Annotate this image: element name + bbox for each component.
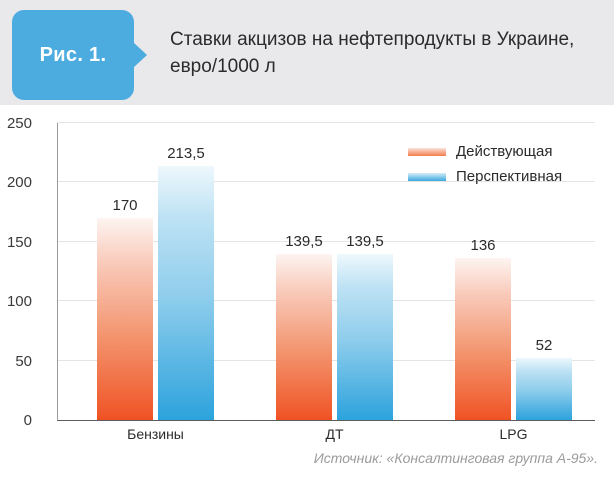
x-axis-category-label: LPG	[435, 426, 592, 442]
bar-value-label: 139,5	[325, 233, 405, 250]
bar-current	[455, 258, 511, 420]
legend-swatch-current-icon	[408, 148, 446, 156]
bar-value-label: 213,5	[146, 145, 226, 162]
y-axis-tick-label: 50	[0, 353, 32, 370]
y-axis-tick-label: 100	[0, 293, 32, 310]
x-axis-category-label: ДТ	[256, 426, 413, 442]
figure-badge: Рис. 1.	[12, 10, 134, 100]
bar-value-label: 136	[443, 237, 523, 254]
bar-current	[97, 218, 153, 420]
legend-item: Действующая	[408, 139, 583, 164]
x-axis-category-label: Бензины	[77, 426, 234, 442]
bar-prospective	[516, 358, 572, 420]
y-axis-tick-label: 0	[0, 412, 32, 429]
source-note: Источник: «Консалтинговая группа А-95».	[314, 450, 598, 466]
page-title: Ставки акцизов на нефтепродукты в Украин…	[170, 26, 590, 80]
bar-prospective	[158, 166, 214, 420]
y-axis-tick-label: 200	[0, 174, 32, 191]
y-axis-tick-label: 150	[0, 234, 32, 251]
legend-swatch-prospective-icon	[408, 173, 446, 181]
bar-value-label: 52	[504, 337, 584, 354]
y-axis-tick-label: 250	[0, 115, 32, 132]
legend-label: Действующая	[456, 143, 552, 160]
chart-legend: Действующая Перспективная	[408, 139, 583, 189]
legend-label: Перспективная	[456, 168, 562, 185]
figure-badge-label: Рис. 1.	[40, 44, 107, 67]
figure-badge-arrow-icon	[133, 42, 147, 68]
header-bar: Рис. 1. Ставки акцизов на нефтепродукты …	[0, 0, 614, 105]
chart-area: 050100150200250 170213,5139,5139,513652 …	[0, 105, 614, 443]
gridline	[58, 122, 595, 123]
bar-current	[276, 254, 332, 420]
bar-value-label: 170	[85, 197, 165, 214]
bar-prospective	[337, 254, 393, 420]
legend-item: Перспективная	[408, 164, 583, 189]
